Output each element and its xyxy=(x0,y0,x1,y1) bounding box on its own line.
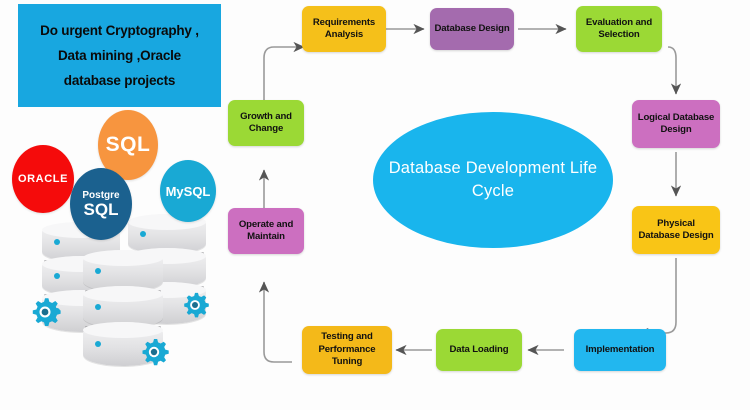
node-label: Operate and Maintain xyxy=(232,219,300,244)
promo-line-1: Do urgent Cryptography , xyxy=(40,18,199,43)
gear-icon-left xyxy=(28,295,62,329)
node-label: Implementation xyxy=(586,344,655,357)
logo-oracle: ORACLE xyxy=(12,145,74,213)
node-label: Data Loading xyxy=(450,344,509,357)
promo-line-2: Data mining ,Oracle xyxy=(58,43,181,68)
node-physical-database-design[interactable]: Physical Database Design xyxy=(632,206,720,254)
node-logical-database-design[interactable]: Logical Database Design xyxy=(632,100,720,148)
logo-mysql-label: MySQL xyxy=(166,184,211,199)
node-implementation[interactable]: Implementation xyxy=(574,329,666,371)
logo-oracle-label: ORACLE xyxy=(18,173,68,185)
center-title-text: Database Development Life Cycle xyxy=(373,157,613,203)
node-database-design[interactable]: Database Design xyxy=(430,8,514,50)
node-label: Database Design xyxy=(434,23,509,36)
gear-icon-bottom xyxy=(138,336,170,368)
logo-postgresql-label-bottom: SQL xyxy=(82,201,119,218)
gear-icon-right xyxy=(180,290,210,320)
node-label: Evaluation and Selection xyxy=(580,17,658,42)
promo-line-3: database projects xyxy=(64,68,175,93)
logo-sql-label: SQL xyxy=(106,133,151,157)
promo-banner: Do urgent Cryptography , Data mining ,Or… xyxy=(18,4,221,107)
slide-canvas: Do urgent Cryptography , Data mining ,Or… xyxy=(0,0,750,410)
node-data-loading[interactable]: Data Loading xyxy=(436,329,522,371)
node-label: Logical Database Design xyxy=(636,112,716,137)
node-evaluation-and-selection[interactable]: Evaluation and Selection xyxy=(576,6,662,52)
node-requirements-analysis[interactable]: Requirements Analysis xyxy=(302,6,386,52)
node-testing-and-performance-tuning[interactable]: Testing and Performance Tuning xyxy=(302,326,392,374)
node-label: Testing and Performance Tuning xyxy=(306,331,388,369)
node-label: Growth and Change xyxy=(232,111,300,136)
lifecycle-diagram: Database Development Life Cycle Requirem… xyxy=(228,0,750,410)
center-title: Database Development Life Cycle xyxy=(373,112,613,248)
node-growth-and-change[interactable]: Growth and Change xyxy=(228,100,304,146)
node-label: Physical Database Design xyxy=(636,218,716,243)
logo-mysql: MySQL xyxy=(160,160,216,222)
node-operate-and-maintain[interactable]: Operate and Maintain xyxy=(228,208,304,254)
node-label: Requirements Analysis xyxy=(306,17,382,42)
logo-postgresql: Postgre SQL xyxy=(70,168,132,240)
